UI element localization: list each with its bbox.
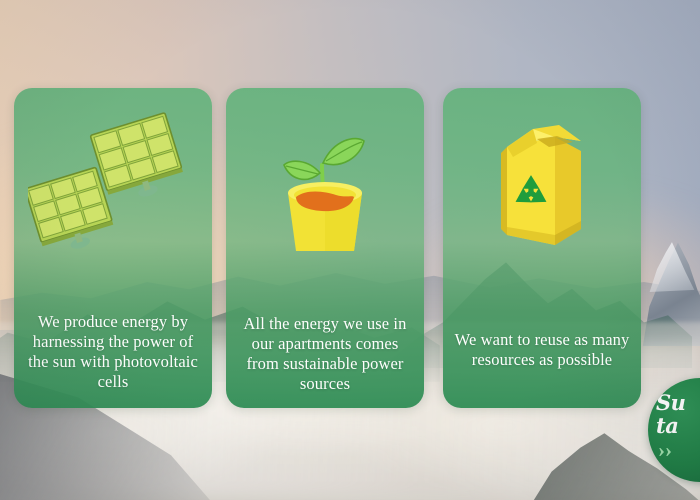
chevron-right-icon: ›› xyxy=(658,440,672,461)
card-reuse-text: We want to reuse as many resources as po… xyxy=(443,330,641,370)
card-reuse[interactable]: We want to reuse as many resources as po… xyxy=(443,88,641,408)
badge-line-2: ta xyxy=(656,415,700,436)
potted-plant-icon xyxy=(226,106,424,266)
card-energy[interactable]: All the energy we use in our apartments … xyxy=(226,88,424,408)
slide-stage: We produce energy by harnessing the powe… xyxy=(0,0,700,500)
solar-panels-icon xyxy=(14,106,212,266)
card-group: We produce energy by harnessing the powe… xyxy=(0,0,700,500)
badge-line-1: Su xyxy=(656,390,685,415)
badge-label: Su ta xyxy=(656,392,700,436)
recycling-paper-bag-icon xyxy=(443,106,641,266)
card-energy-text: All the energy we use in our apartments … xyxy=(226,314,424,395)
card-solar-text: We produce energy by harnessing the powe… xyxy=(14,312,212,393)
card-solar[interactable]: We produce energy by harnessing the powe… xyxy=(14,88,212,408)
